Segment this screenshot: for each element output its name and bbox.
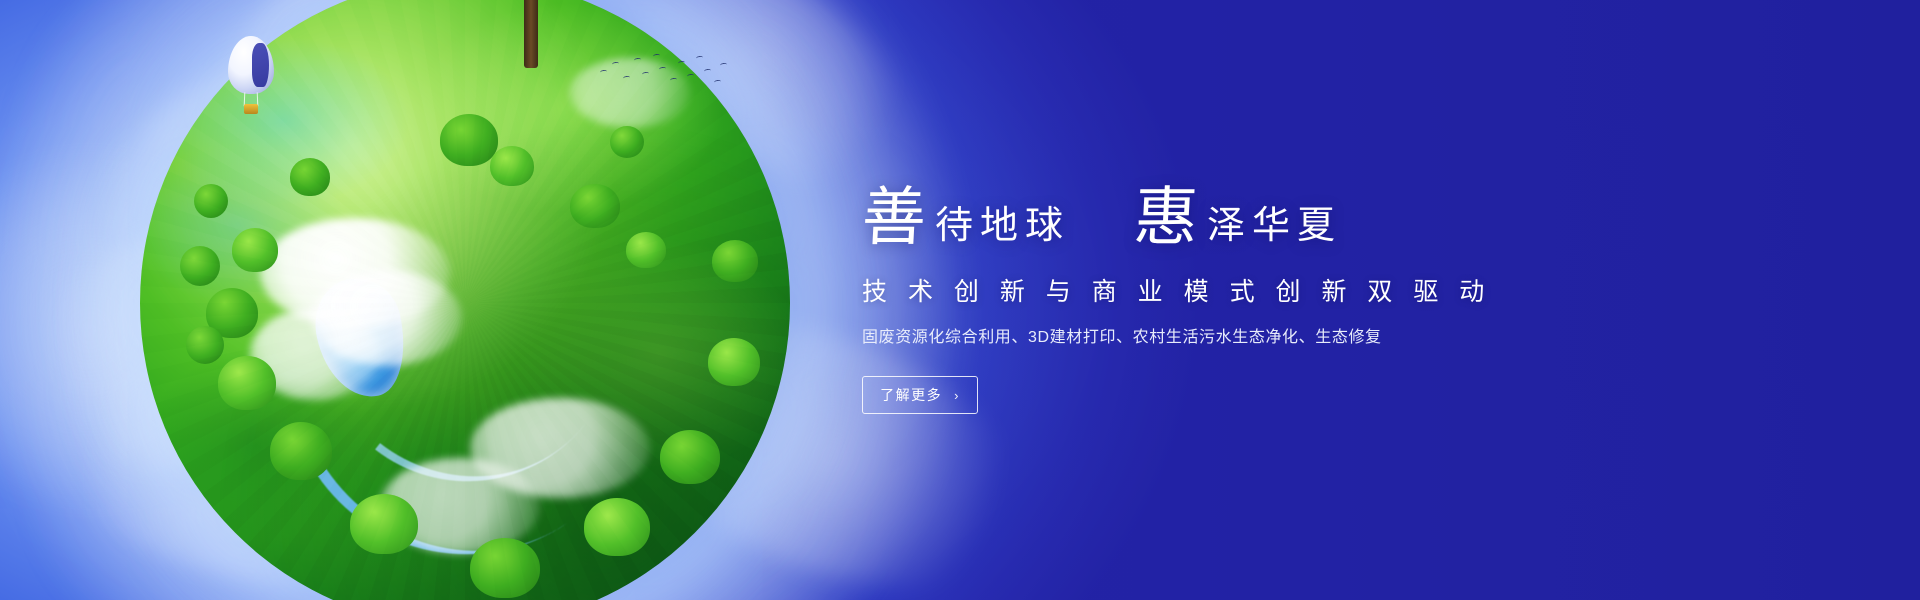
shrub-icon <box>610 126 644 158</box>
tree-icon <box>232 228 278 272</box>
balloon-envelope <box>228 36 274 94</box>
headline-rest-2: 泽华夏 <box>1199 207 1342 250</box>
surface-cloud <box>470 398 650 498</box>
bird-icon <box>634 58 641 63</box>
bird-icon <box>612 62 619 67</box>
tree-icon <box>570 184 620 228</box>
tree-icon <box>490 146 534 186</box>
surface-cloud <box>260 218 450 328</box>
tree-icon <box>660 430 720 484</box>
banner-content: 善 待地球 惠 泽华夏 技 术 创 新 与 商 业 模 式 创 新 双 驱 动 … <box>862 0 1602 600</box>
tree-icon <box>440 114 498 166</box>
headline-rest-1: 待地球 <box>927 207 1070 250</box>
surface-cloud <box>312 270 462 366</box>
river-icon <box>375 268 635 542</box>
tree-icon <box>470 538 540 598</box>
shrub-icon <box>180 246 220 286</box>
bird-icon <box>623 76 630 81</box>
learn-more-label: 了解更多 <box>880 385 942 405</box>
tree-trunk <box>524 0 538 68</box>
bird-icon <box>600 70 607 75</box>
shrub-icon <box>186 326 224 364</box>
bird-icon <box>670 78 677 83</box>
bird-icon <box>659 67 666 72</box>
balloon-basket <box>244 104 258 114</box>
river-icon <box>317 296 683 600</box>
banner-description: 固废资源化综合利用、3D建材打印、农村生活污水生态净化、生态修复 <box>862 326 1602 350</box>
learn-more-button[interactable]: 了解更多 › <box>862 376 978 414</box>
tree-icon <box>350 494 418 554</box>
headline: 善 待地球 惠 泽华夏 <box>862 186 1602 250</box>
bird-icon <box>687 74 694 79</box>
shrub-icon <box>194 184 228 218</box>
headline-phrase-2: 惠 泽华夏 <box>1134 186 1342 250</box>
headline-lead-char-1: 善 <box>860 186 928 250</box>
surface-cloud <box>250 308 380 400</box>
bird-icon <box>704 69 711 74</box>
hot-air-balloon-icon <box>228 36 274 122</box>
tree-icon <box>708 338 760 386</box>
surface-cloud <box>380 458 540 554</box>
tree-icon <box>206 288 258 338</box>
headline-lead-char-2: 惠 <box>1132 186 1200 250</box>
tree-icon <box>626 232 666 268</box>
tree-icon <box>270 422 332 480</box>
tree-icon <box>218 356 276 410</box>
tree-icon <box>290 158 330 196</box>
hero-banner: 善 待地球 惠 泽华夏 技 术 创 新 与 商 业 模 式 创 新 双 驱 动 … <box>0 0 1920 600</box>
chevron-right-icon: › <box>954 389 960 402</box>
bird-icon <box>642 72 649 77</box>
bird-icon <box>696 56 703 61</box>
banner-subtitle: 技 术 创 新 与 商 业 模 式 创 新 双 驱 动 <box>862 276 1602 309</box>
bird-flock-icon <box>596 48 726 96</box>
headline-phrase-1: 善 待地球 <box>862 186 1070 250</box>
bird-icon <box>653 54 660 59</box>
tree-icon <box>584 498 650 556</box>
bird-icon <box>714 80 721 85</box>
tree-icon <box>712 240 758 282</box>
bird-icon <box>678 61 685 66</box>
lake-icon <box>306 270 415 405</box>
